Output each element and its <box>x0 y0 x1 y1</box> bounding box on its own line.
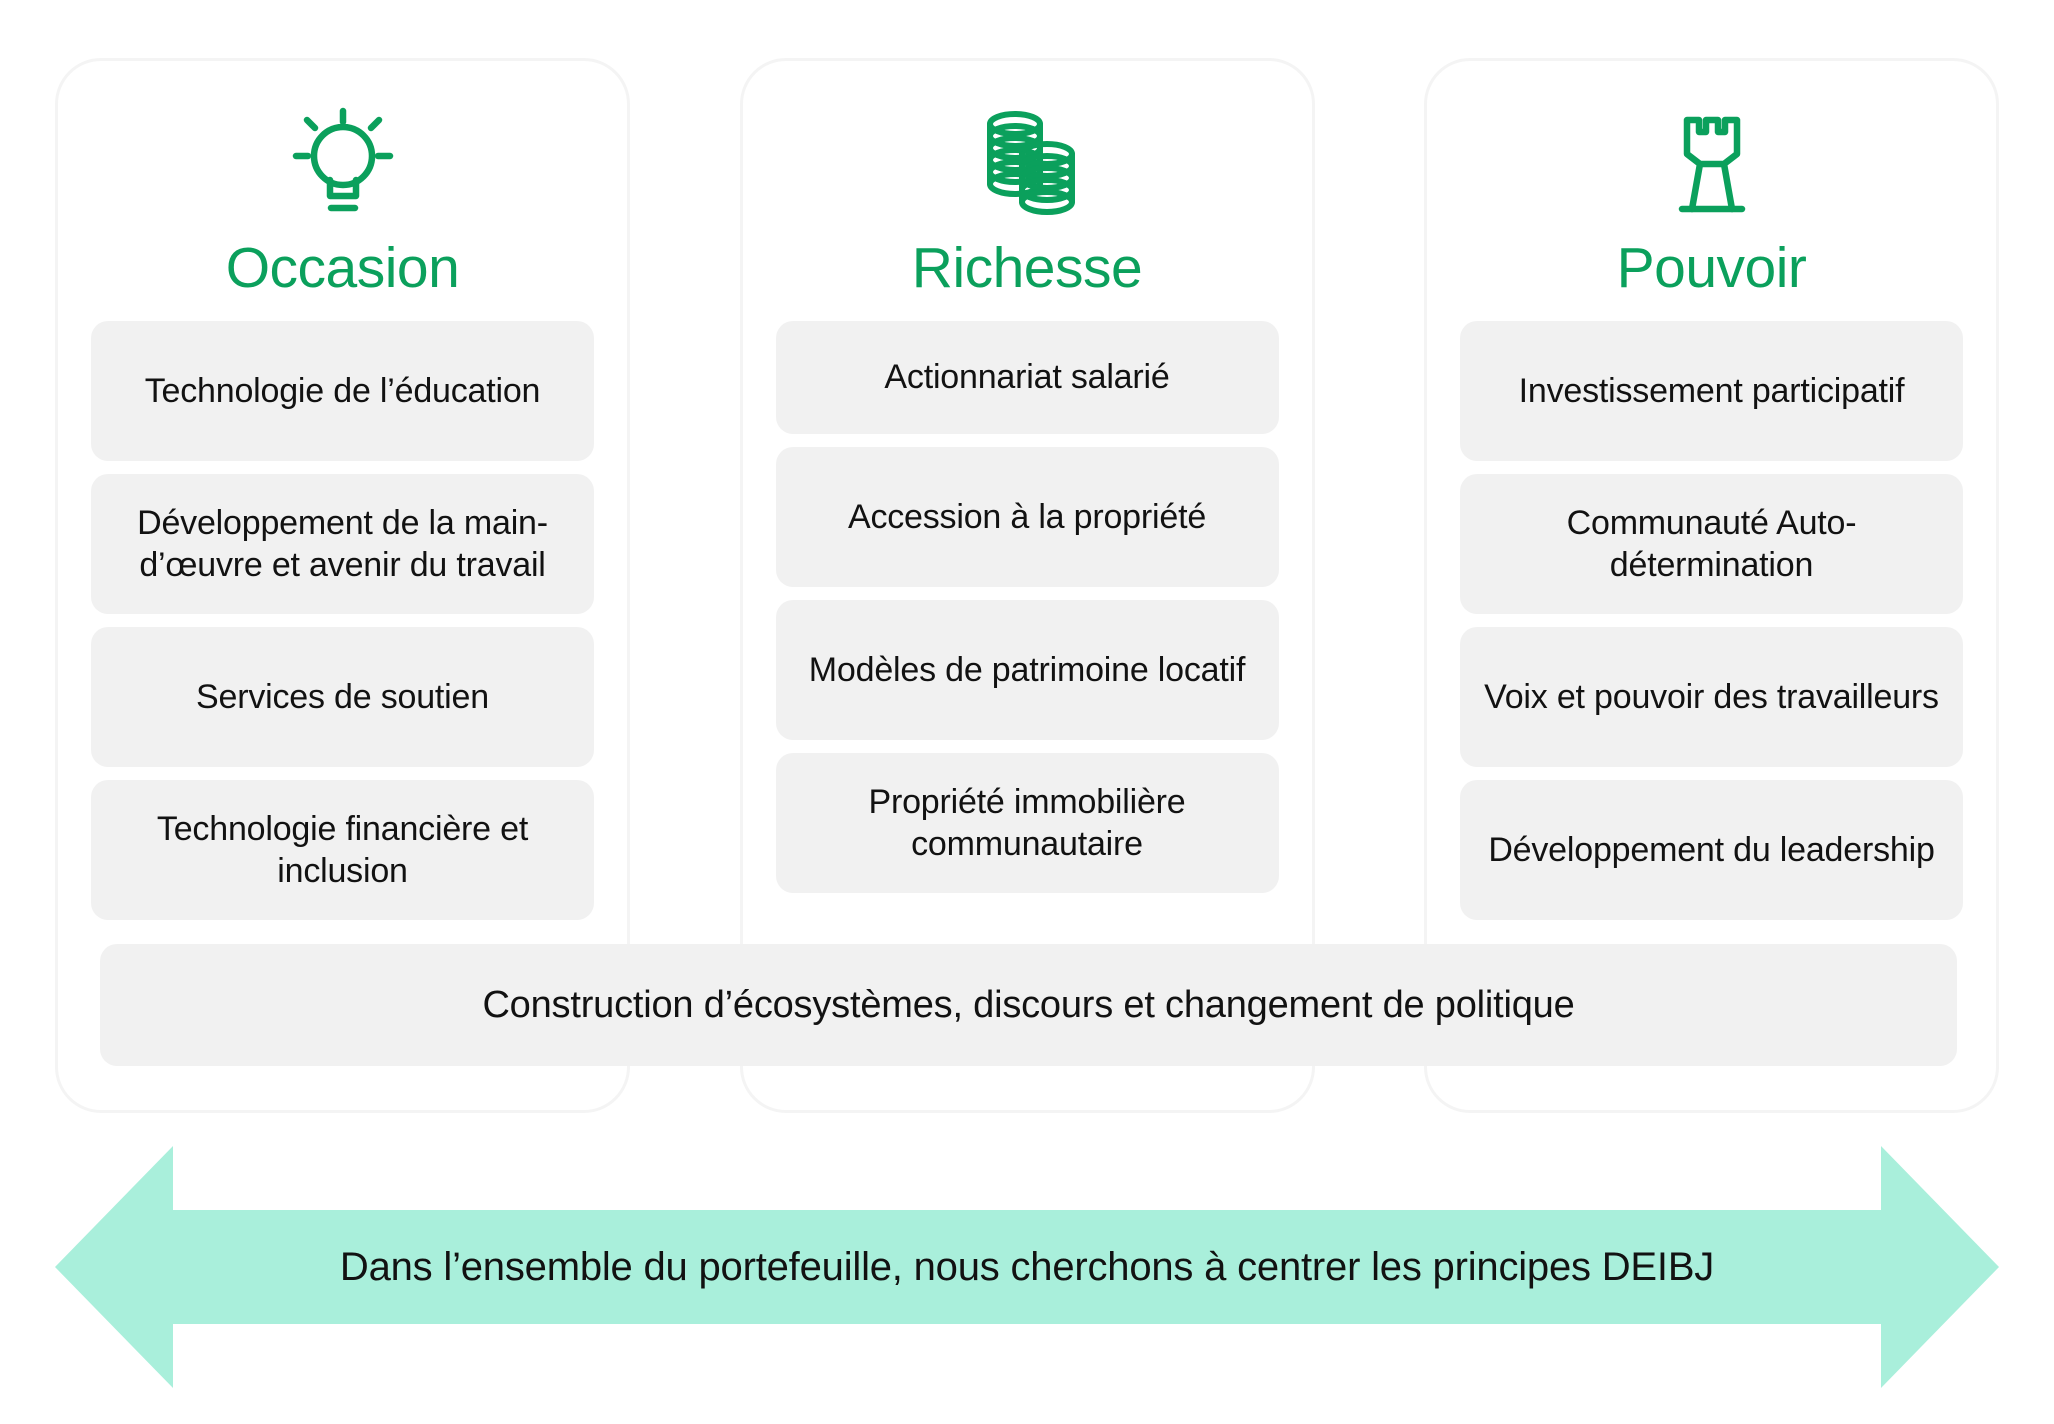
pillar-item[interactable]: Communauté Auto-détermination <box>1460 474 1963 614</box>
pillar-item-list: Investissement participatif Communauté A… <box>1427 321 1996 920</box>
pillar-item[interactable]: Technologie de l’éducation <box>91 321 594 461</box>
pillar-item[interactable]: Actionnariat salarié <box>776 321 1279 434</box>
pillar-item-list: Actionnariat salarié Accession à la prop… <box>743 321 1312 893</box>
infographic-canvas: Occasion Technologie de l’éducation Déve… <box>0 0 2054 1424</box>
pillar-item[interactable]: Développement de la main-d’œuvre et aven… <box>91 474 594 614</box>
cross-cutting-band[interactable]: Construction d’écosystèmes, discours et … <box>100 944 1957 1066</box>
pillar-title: Occasion <box>226 239 460 299</box>
pillar-item[interactable]: Propriété immobilière communautaire <box>776 753 1279 893</box>
pillar-item[interactable]: Accession à la propriété <box>776 447 1279 587</box>
double-arrow-shape <box>55 1142 1999 1392</box>
pillar-item[interactable]: Services de soutien <box>91 627 594 767</box>
deibj-arrow-banner: Dans l’ensemble du portefeuille, nous ch… <box>55 1142 1999 1392</box>
pillar-item[interactable]: Technologie financière et inclusion <box>91 780 594 920</box>
chess-rook-icon <box>1652 99 1772 229</box>
pillar-title: Richesse <box>912 239 1142 299</box>
pillar-item[interactable]: Investissement participatif <box>1460 321 1963 461</box>
pillar-item[interactable]: Modèles de patrimoine locatif <box>776 600 1279 740</box>
pillar-title: Pouvoir <box>1617 239 1807 299</box>
pillar-item[interactable]: Voix et pouvoir des travailleurs <box>1460 627 1963 767</box>
lightbulb-icon <box>283 99 403 229</box>
coins-stack-icon <box>967 99 1087 229</box>
pillar-item-list: Technologie de l’éducation Développement… <box>58 321 627 920</box>
pillar-item[interactable]: Développement du leadership <box>1460 780 1963 920</box>
